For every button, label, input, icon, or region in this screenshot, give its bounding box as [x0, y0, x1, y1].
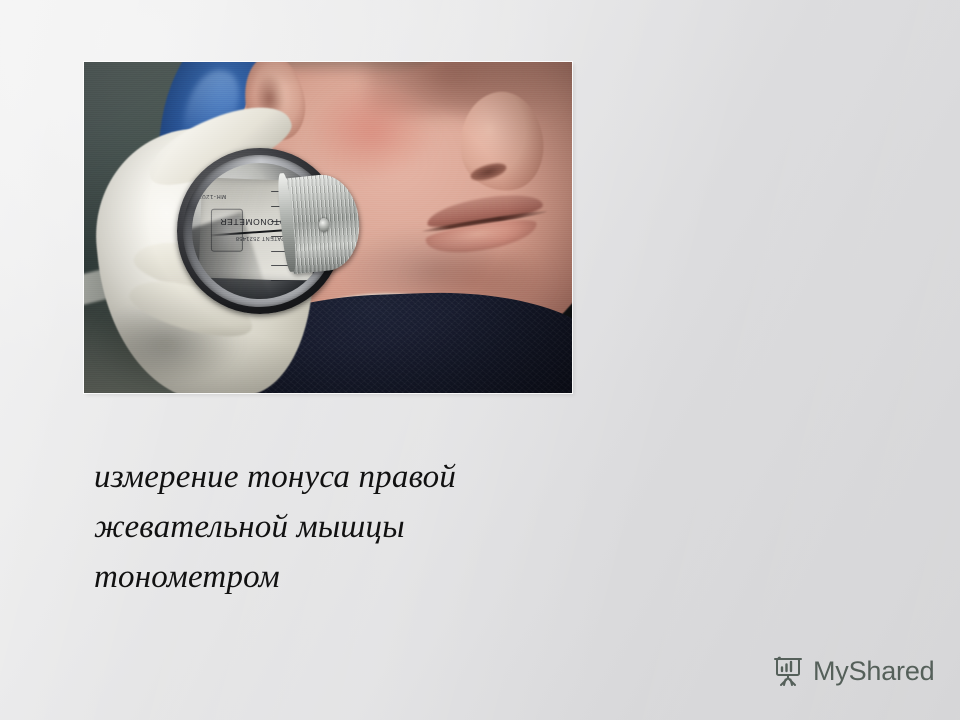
caption-line-3: тонометром	[94, 552, 654, 602]
myshared-watermark[interactable]: MyShared	[772, 655, 934, 687]
clinical-photo: MR-1201 MYOTONOMETER PATENT 2521458 80 7…	[84, 62, 572, 393]
presentation-chart-icon	[772, 655, 804, 687]
myotonometer-device: MR-1201 MYOTONOMETER PATENT 2521458 80 7…	[177, 148, 343, 314]
slide-canvas: MR-1201 MYOTONOMETER PATENT 2521458 80 7…	[0, 0, 960, 720]
photo-canvas: MR-1201 MYOTONOMETER PATENT 2521458 80 7…	[84, 62, 572, 393]
caption-line-2: жевательной мышцы	[94, 502, 654, 552]
caption-line-1: измерение тонуса правой	[94, 452, 654, 502]
myshared-watermark-text: MyShared	[813, 658, 934, 685]
tick-label: 80	[313, 278, 319, 284]
slide-caption: измерение тонуса правой жевательной мышц…	[94, 452, 654, 602]
